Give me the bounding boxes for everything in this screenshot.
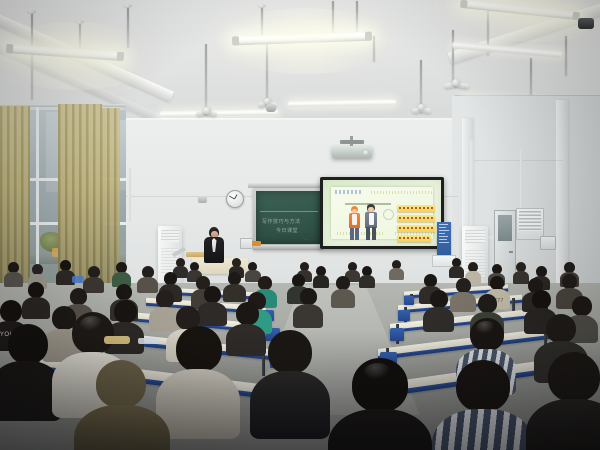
wall-clock: [226, 190, 244, 208]
desk-item: [138, 338, 158, 344]
rod-cap: [257, 4, 266, 8]
slide-figure-right: [364, 204, 378, 240]
suspension-rod: [565, 36, 567, 76]
suspension-rod: [452, 30, 454, 82]
screen-surface: [323, 180, 441, 246]
slide-menu-button-3[interactable]: [397, 225, 435, 232]
chair-back: [390, 328, 404, 341]
chair-back: [398, 310, 410, 321]
suspension-rod: [356, 1, 358, 35]
ceiling-fan: [444, 78, 468, 90]
slide-decoration: [371, 191, 433, 194]
wall-conduit: [128, 168, 131, 222]
ceiling-camera-icon: [266, 104, 276, 112]
slide-figure-left: [348, 206, 361, 240]
wall-speaker: [198, 196, 207, 203]
suspension-rod: [266, 38, 268, 100]
electrical-panel: [540, 236, 556, 250]
suspension-rod: [420, 60, 422, 108]
chalk-text: 今日课堂: [276, 227, 298, 234]
projector-bracket: [340, 140, 364, 144]
slide-header-bar: [335, 190, 361, 194]
projection-screen[interactable]: [320, 177, 444, 249]
desk-item: [72, 276, 84, 283]
wall-seam: [473, 160, 563, 161]
blackboard[interactable]: 写作技巧与方法 今日课堂 ···: [253, 188, 323, 250]
wall-sign: [252, 241, 261, 246]
slide-menu-button-4[interactable]: [397, 235, 431, 242]
chalk-text: 写作技巧与方法: [262, 218, 301, 225]
ceiling-camera-icon: [578, 18, 594, 29]
suspension-rod: [261, 6, 263, 36]
presenter: [203, 227, 225, 263]
ceiling-fan: [412, 104, 430, 115]
suspension-rod: [205, 44, 207, 110]
rod-cap: [123, 4, 132, 8]
projector: [332, 146, 372, 158]
ceiling-fan: [196, 106, 216, 118]
chair-back: [404, 296, 414, 305]
slide-badge: [383, 209, 394, 220]
rod-cap: [27, 10, 36, 14]
blackboard-surface: 写作技巧与方法 今日课堂 ···: [256, 191, 320, 244]
suspension-rod: [530, 58, 532, 100]
rod-cap: [75, 20, 84, 24]
chalk-tray: [253, 245, 323, 250]
suspension-rod: [127, 6, 129, 48]
classroom-photo: 写作技巧与方法 今日课堂 ···: [0, 0, 600, 450]
suspension-rod: [79, 22, 81, 52]
chalk-text: ···: [304, 237, 310, 242]
slide-menu-button-1[interactable]: [397, 205, 435, 212]
slide-menu-button-2[interactable]: [397, 215, 435, 222]
suspension-rod: [373, 36, 375, 62]
desk-item: [104, 336, 130, 344]
suspension-rod: [31, 12, 33, 100]
wall-conduit: [470, 140, 474, 240]
presentation-slide: [331, 187, 433, 239]
curtain: [100, 108, 120, 284]
